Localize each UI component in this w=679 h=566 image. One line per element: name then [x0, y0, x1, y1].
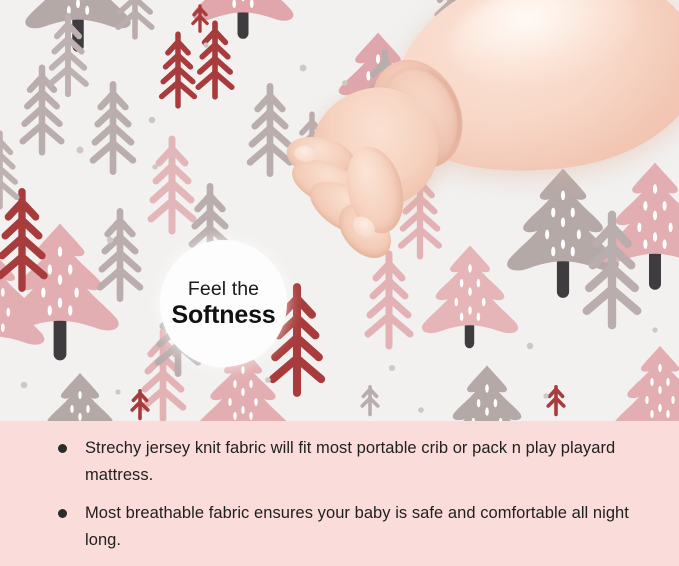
list-item: Strechy jersey knit fabric will fit most… — [58, 435, 649, 488]
feature-info-panel: Strechy jersey knit fabric will fit most… — [0, 421, 679, 566]
bullet-text: Most breathable fabric ensures your baby… — [85, 500, 649, 553]
bullet-text: Strechy jersey knit fabric will fit most… — [85, 435, 649, 488]
feel-the-softness-badge: Feel the Softness — [160, 240, 287, 367]
tree-pattern-background — [0, 0, 679, 421]
list-item: Most breathable fabric ensures your baby… — [58, 500, 649, 553]
product-banner: Feel the Softness Strechy jersey knit fa… — [0, 0, 679, 566]
bullet-dot-icon — [58, 444, 67, 453]
badge-line-2: Softness — [172, 302, 276, 328]
badge-line-1: Feel the — [188, 279, 259, 299]
bullet-dot-icon — [58, 509, 67, 518]
product-photo: Feel the Softness — [0, 0, 679, 421]
feature-bullet-list: Strechy jersey knit fabric will fit most… — [58, 435, 649, 566]
